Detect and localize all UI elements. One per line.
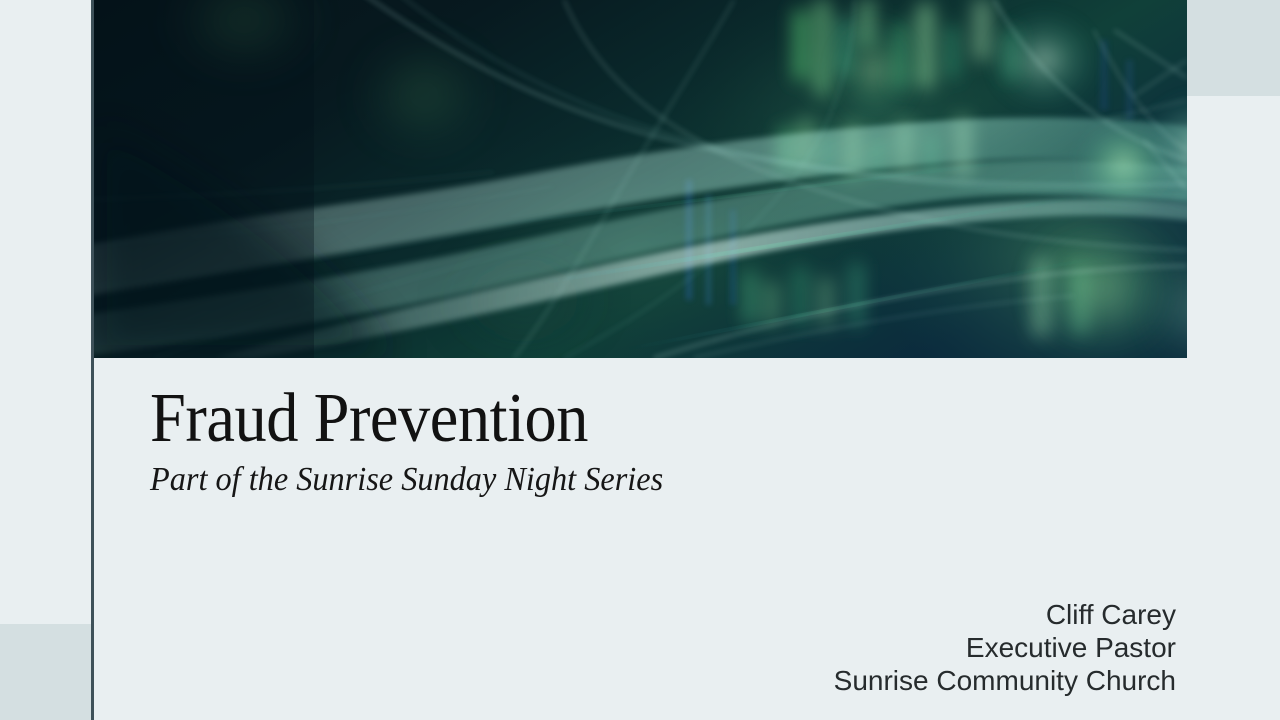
author-block: Cliff Carey Executive Pastor Sunrise Com… [834,598,1176,697]
slide-title: Fraud Prevention [150,384,978,454]
presentation-slide: Fraud Prevention Part of the Sunrise Sun… [0,0,1280,720]
author-role: Executive Pastor [834,631,1176,664]
accent-band-top-right [1186,0,1280,96]
author-organization: Sunrise Community Church [834,664,1176,697]
author-name: Cliff Carey [834,598,1176,631]
slide-subtitle: Part of the Sunrise Sunday Night Series [150,462,1005,498]
hero-image [94,0,1187,358]
accent-band-bottom-left [0,624,91,720]
abstract-light-streams-graphic [94,0,1187,358]
title-block: Fraud Prevention Part of the Sunrise Sun… [150,384,1050,498]
